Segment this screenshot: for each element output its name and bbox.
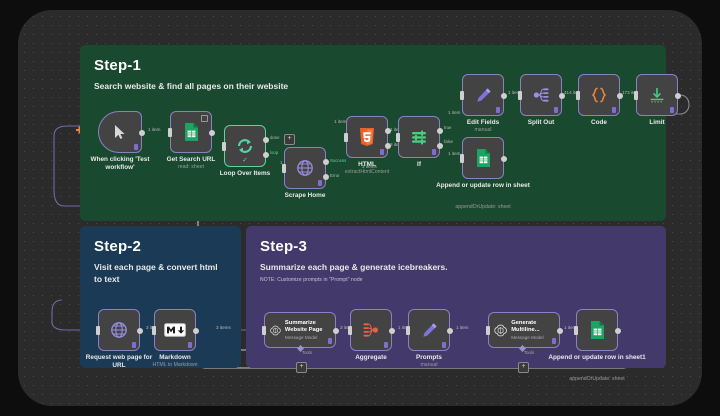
input-port[interactable]: [348, 326, 352, 335]
node-subtitle: manual: [381, 362, 477, 368]
node-subtitle: extractHtmlContent: [319, 169, 415, 175]
connection-label: 3 items: [362, 164, 377, 169]
panel-description: Visit each page & convert html to text: [94, 261, 222, 286]
node-body[interactable]: [98, 111, 142, 153]
split-out-icon: [532, 86, 550, 104]
output-label-loop: loop: [270, 150, 278, 155]
output-port-done[interactable]: [263, 137, 269, 143]
node-body[interactable]: [398, 116, 440, 158]
connection-label: 3 items: [216, 325, 231, 330]
code-braces-icon: [590, 86, 608, 104]
html5-icon: [359, 128, 375, 146]
workflow-screenshot: Step-1 Search website & find all pages o…: [0, 0, 720, 416]
output-port[interactable]: [209, 130, 215, 136]
tools-label: Tools: [524, 350, 534, 355]
node-summarize-website-page[interactable]: Summarize Website Page Message Model: [264, 312, 336, 348]
input-port[interactable]: [574, 326, 578, 335]
node-subtitle: Message Model: [511, 335, 554, 341]
add-tool-button[interactable]: +: [296, 362, 307, 373]
output-port[interactable]: [501, 156, 507, 162]
input-port[interactable]: [634, 91, 638, 100]
node-badge: [496, 107, 500, 113]
add-tool-button[interactable]: +: [518, 362, 529, 373]
input-port[interactable]: [262, 326, 266, 335]
connection-label: 1 item: [448, 110, 461, 115]
node-split-out[interactable]: Split Out: [520, 74, 562, 116]
node-badge: [380, 149, 384, 155]
node-label: Generate Multiline...: [511, 320, 539, 333]
node-loop-over-items[interactable]: ✓ Loop Over Items: [224, 125, 266, 167]
panel-title: Step-2: [94, 238, 241, 255]
output-port[interactable]: [389, 328, 395, 334]
openai-icon: [270, 322, 281, 339]
node-body[interactable]: [462, 74, 504, 116]
input-port[interactable]: [96, 326, 100, 335]
output-port[interactable]: [557, 328, 563, 334]
node-aggregate[interactable]: Aggregate: [350, 309, 392, 351]
node-body[interactable]: [636, 74, 678, 116]
node-body[interactable]: [462, 137, 504, 179]
node-edit-fields[interactable]: Edit Fields manual: [462, 74, 504, 116]
node-label: Prompts: [386, 354, 472, 362]
node-append-or-update-row-in-sheet[interactable]: Append or update row in sheet appendOrUp…: [462, 137, 504, 179]
node-label: Get Search URL: [148, 156, 234, 164]
success-check-icon: ✓: [242, 157, 248, 164]
node-limit[interactable]: Limit: [636, 74, 678, 116]
node-body[interactable]: [154, 309, 196, 351]
pencil-icon: [475, 87, 492, 104]
add-node-button[interactable]: +: [284, 134, 295, 145]
node-scrape-home[interactable]: Scrape Home: [284, 147, 326, 189]
node-code[interactable]: Code: [578, 74, 620, 116]
node-when-clicking-test-workflow[interactable]: When clicking 'Test workflow': [98, 111, 142, 153]
input-port[interactable]: [406, 326, 410, 335]
panel-title: Step-1: [94, 57, 666, 74]
node-subtitle: HTML to Markdown: [127, 362, 223, 368]
workflow-canvas[interactable]: Step-1 Search website & find all pages o…: [18, 10, 702, 406]
input-port[interactable]: [396, 133, 400, 142]
input-port[interactable]: [486, 326, 490, 335]
node-label: Limit: [614, 119, 700, 127]
node-badge: [134, 144, 138, 150]
output-port-false[interactable]: [437, 143, 443, 149]
input-port[interactable]: [460, 91, 464, 100]
node-badge: [670, 107, 674, 113]
node-body[interactable]: [408, 309, 450, 351]
node-label: Summarize Website Page: [285, 320, 323, 333]
google-sheets-icon: [476, 149, 491, 168]
output-port[interactable]: [137, 328, 143, 334]
node-get-search-url[interactable]: Get Search URL read: sheet: [170, 111, 212, 153]
node-body[interactable]: [576, 309, 618, 351]
input-port[interactable]: [152, 326, 156, 335]
openai-icon: [494, 322, 507, 339]
node-badge: [188, 342, 192, 348]
node-badge: [612, 107, 616, 113]
node-prompts[interactable]: Prompts manual: [408, 309, 450, 351]
node-body[interactable]: ✓: [224, 125, 266, 167]
node-label: Append or update row in sheet: [431, 182, 535, 190]
node-generate-multiline[interactable]: Generate Multiline... Message Model: [488, 312, 560, 348]
google-sheets-icon: [590, 321, 605, 340]
node-subtitle: Message Model: [285, 335, 330, 341]
filter-icon: [410, 128, 428, 146]
connection-label: 1 item: [456, 325, 469, 330]
node-badge: [328, 338, 332, 344]
google-sheets-icon: [184, 123, 199, 142]
globe-icon: [296, 159, 314, 177]
node-badge: [554, 107, 558, 113]
panel-description: Summarize each page & generate icebreake…: [260, 261, 600, 273]
node-title-text: Summarize Website Page Message Model: [285, 320, 330, 341]
node-subtitle: appendOrUpdate: sheet: [435, 204, 531, 210]
output-port[interactable]: [615, 328, 621, 334]
globe-icon: [110, 321, 128, 339]
node-html[interactable]: HTML extractHtmlContent: [346, 116, 388, 158]
node-body[interactable]: Summarize Website Page Message Model: [264, 312, 336, 348]
loop-icon: [236, 137, 254, 155]
node-subtitle: manual: [435, 127, 531, 133]
node-label: If: [376, 161, 462, 169]
node-subtitle: appendOrUpdate: sheet: [549, 376, 645, 382]
node-badge: [318, 180, 322, 186]
node-badge: [552, 338, 556, 344]
output-port[interactable]: [501, 93, 507, 99]
input-port[interactable]: [460, 154, 464, 163]
input-port[interactable]: [344, 133, 348, 142]
node-label: Loop Over Items: [202, 170, 288, 178]
node-body[interactable]: [520, 74, 562, 116]
output-port[interactable]: [333, 328, 339, 334]
input-port[interactable]: [576, 91, 580, 100]
node-title-text: Generate Multiline... Message Model: [511, 320, 554, 341]
node-label: Markdown: [132, 354, 218, 362]
node-body[interactable]: [346, 116, 388, 158]
node-body[interactable]: [98, 309, 140, 351]
node-append-or-update-row-in-sheet1[interactable]: Append or update row in sheet1 appendOrU…: [576, 309, 618, 351]
output-label-false: false: [444, 139, 453, 144]
node-label: Append or update row in sheet1: [545, 354, 649, 362]
node-body[interactable]: [578, 74, 620, 116]
tools-label: Tools: [302, 350, 312, 355]
output-port[interactable]: [447, 328, 453, 334]
node-body[interactable]: [170, 111, 212, 153]
output-port-loop[interactable]: [263, 152, 269, 158]
panel-title: Step-3: [260, 238, 666, 255]
node-body[interactable]: Generate Multiline... Message Model: [488, 312, 560, 348]
node-body[interactable]: [284, 147, 326, 189]
node-if[interactable]: If: [398, 116, 440, 158]
cursor-icon: [113, 124, 127, 140]
aggregate-icon: [362, 321, 380, 339]
connection-label: 1 item: [334, 119, 347, 124]
node-badge: [132, 342, 136, 348]
node-label: Scrape Home: [262, 192, 348, 200]
connection-label: 1 item: [148, 127, 161, 132]
node-badge: [384, 342, 388, 348]
markdown-icon: [164, 323, 186, 337]
connection-label: 1 item: [448, 151, 461, 156]
input-port[interactable]: [222, 142, 226, 151]
limit-icon: [648, 86, 666, 104]
pin-corner-icon: [201, 115, 208, 122]
node-body[interactable]: [350, 309, 392, 351]
node-badge: [442, 342, 446, 348]
input-port[interactable]: [518, 91, 522, 100]
pencil-icon: [421, 322, 438, 339]
input-port[interactable]: [282, 164, 286, 173]
output-port[interactable]: [193, 328, 199, 334]
node-badge: [432, 149, 436, 155]
output-port[interactable]: [675, 93, 681, 99]
panel-note: NOTE: Customize prompts in "Prompt" node: [260, 277, 666, 283]
output-port[interactable]: [139, 130, 145, 136]
output-label-done: done: [270, 135, 280, 140]
node-markdown[interactable]: Markdown HTML to Markdown: [154, 309, 196, 351]
node-request-web-page-for-url[interactable]: Request web page for URL: [98, 309, 140, 351]
input-port[interactable]: [168, 128, 172, 137]
